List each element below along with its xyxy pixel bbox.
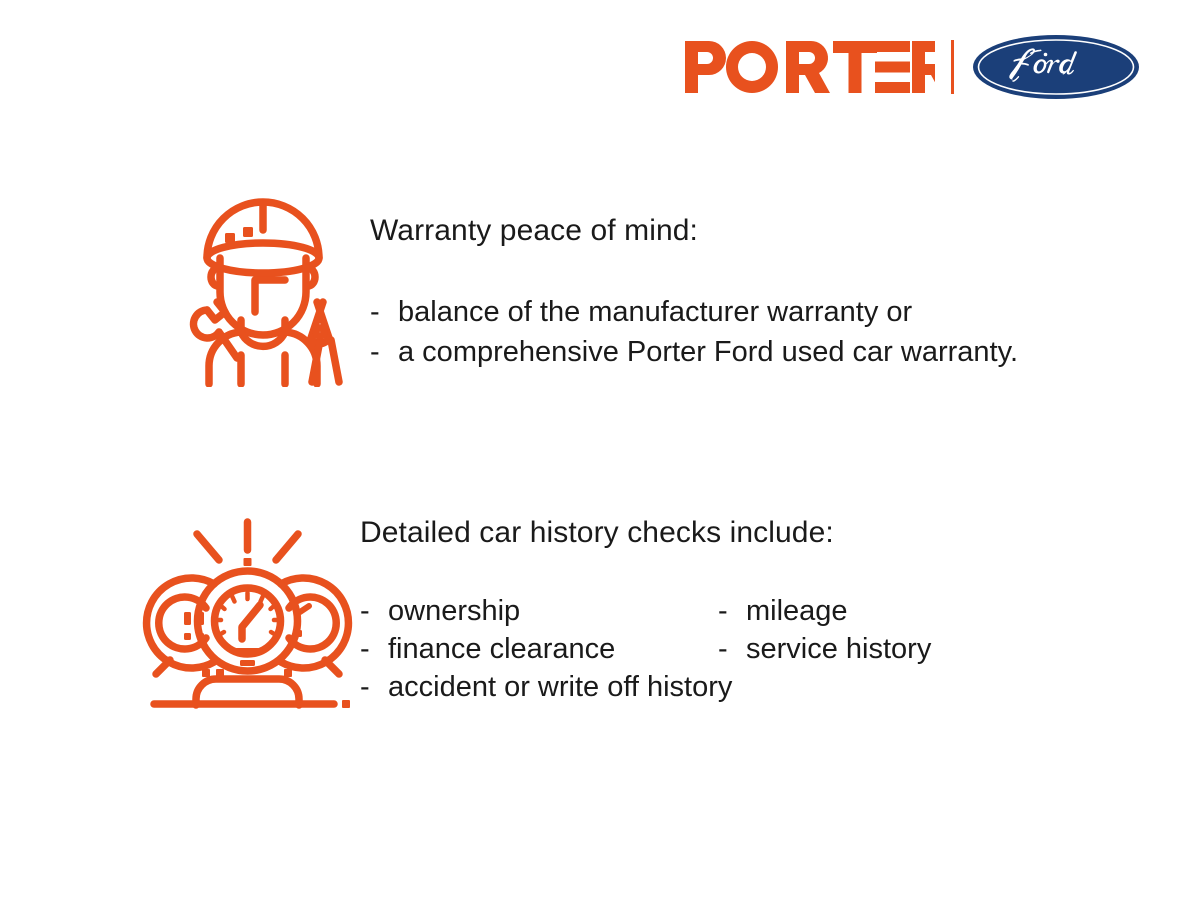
- mechanic-icon-wrap: [150, 188, 375, 387]
- bullet-text: service history: [746, 630, 931, 668]
- warranty-bullet-list: - balance of the manufacturer warranty o…: [370, 292, 1018, 372]
- list-item: - finance clearance - service history: [360, 630, 931, 668]
- bullet-text: balance of the manufacturer warranty or: [398, 292, 912, 332]
- history-item-right: - service history: [718, 630, 931, 668]
- bullet-text: finance clearance: [388, 630, 615, 668]
- history-checks-text: Detailed car history checks include: - o…: [360, 508, 931, 706]
- history-checks-block: Detailed car history checks include: - o…: [140, 508, 931, 713]
- list-item: - ownership - mileage: [360, 592, 931, 630]
- bullet-dash: -: [370, 292, 398, 332]
- bullet-text: accident or write off history: [388, 668, 732, 706]
- bullet-text: ownership: [388, 592, 520, 630]
- history-item-left: - ownership: [360, 592, 718, 630]
- warranty-text: Warranty peace of mind: - balance of the…: [370, 188, 1018, 372]
- ford-oval-icon: [972, 34, 1140, 100]
- list-item: - accident or write off history: [360, 668, 931, 706]
- list-item: - balance of the manufacturer warranty o…: [370, 292, 1018, 332]
- porter-wordmark-icon: [685, 41, 935, 93]
- bullet-text: mileage: [746, 592, 848, 630]
- bullet-dash: -: [360, 668, 388, 706]
- porter-logo: [685, 41, 935, 93]
- history-checks-list: - ownership - mileage - finance clearanc…: [360, 592, 931, 706]
- history-checks-heading: Detailed car history checks include:: [360, 516, 931, 550]
- dashboard-icon-wrap: [140, 508, 355, 713]
- brand-divider: [951, 40, 954, 94]
- warranty-heading: Warranty peace of mind:: [370, 214, 1018, 248]
- bullet-dash: -: [360, 592, 388, 630]
- history-item-right: - mileage: [718, 592, 848, 630]
- history-item-left: - accident or write off history: [360, 668, 718, 706]
- bullet-dash: -: [370, 332, 398, 372]
- bullet-dash: -: [718, 592, 746, 630]
- warranty-block: Warranty peace of mind: - balance of the…: [150, 188, 1018, 387]
- brand-lockup: [685, 34, 1140, 100]
- bullet-text: a comprehensive Porter Ford used car war…: [398, 332, 1018, 372]
- bullet-dash: -: [718, 630, 746, 668]
- mechanic-icon: [163, 192, 363, 387]
- bullet-dash: -: [360, 630, 388, 668]
- list-item: - a comprehensive Porter Ford used car w…: [370, 332, 1018, 372]
- history-item-left: - finance clearance: [360, 630, 718, 668]
- car-dashboard-gauges-icon: [140, 508, 355, 713]
- ford-logo: [972, 34, 1140, 100]
